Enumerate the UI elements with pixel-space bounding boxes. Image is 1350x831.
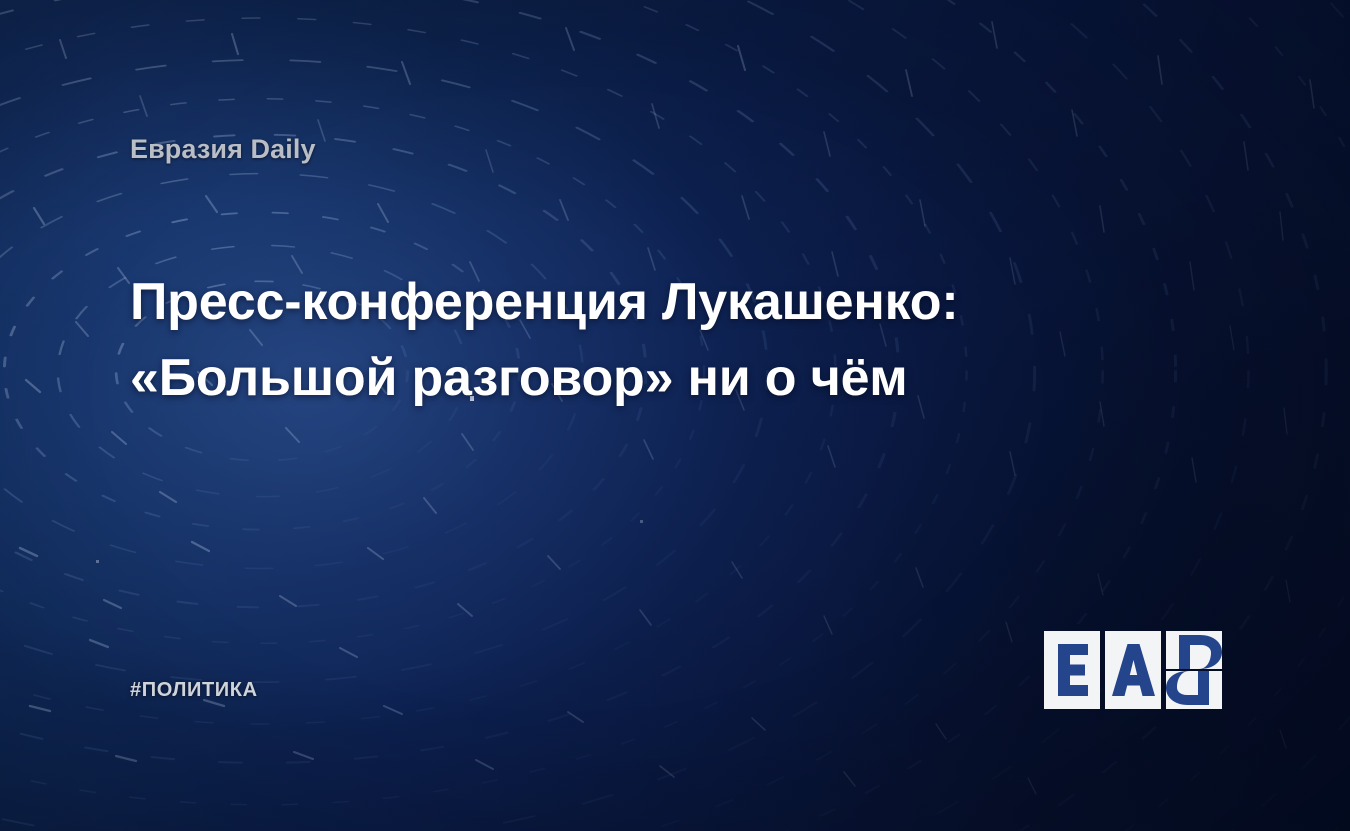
- headline-line-1: Пресс-конференция Лукашенко:: [130, 264, 1090, 340]
- headline: Пресс-конференция Лукашенко: «Большой ра…: [130, 264, 1090, 416]
- eadaily-logo: [1044, 631, 1222, 709]
- category-hashtag[interactable]: #ПОЛИТИКА: [130, 679, 258, 702]
- card-content: Евразия Daily Пресс-конференция Лукашенк…: [0, 0, 1350, 831]
- logo-tile-e: [1044, 631, 1100, 709]
- logo-tile-d: [1166, 631, 1222, 709]
- headline-line-2: «Большой разговор» ни о чём: [130, 340, 1090, 416]
- logo-tile-d-top: [1166, 631, 1222, 669]
- news-share-card: Евразия Daily Пресс-конференция Лукашенк…: [0, 0, 1350, 831]
- logo-tile-d-bottom: [1166, 671, 1222, 709]
- brand-wordmark: Евразия Daily: [130, 134, 316, 165]
